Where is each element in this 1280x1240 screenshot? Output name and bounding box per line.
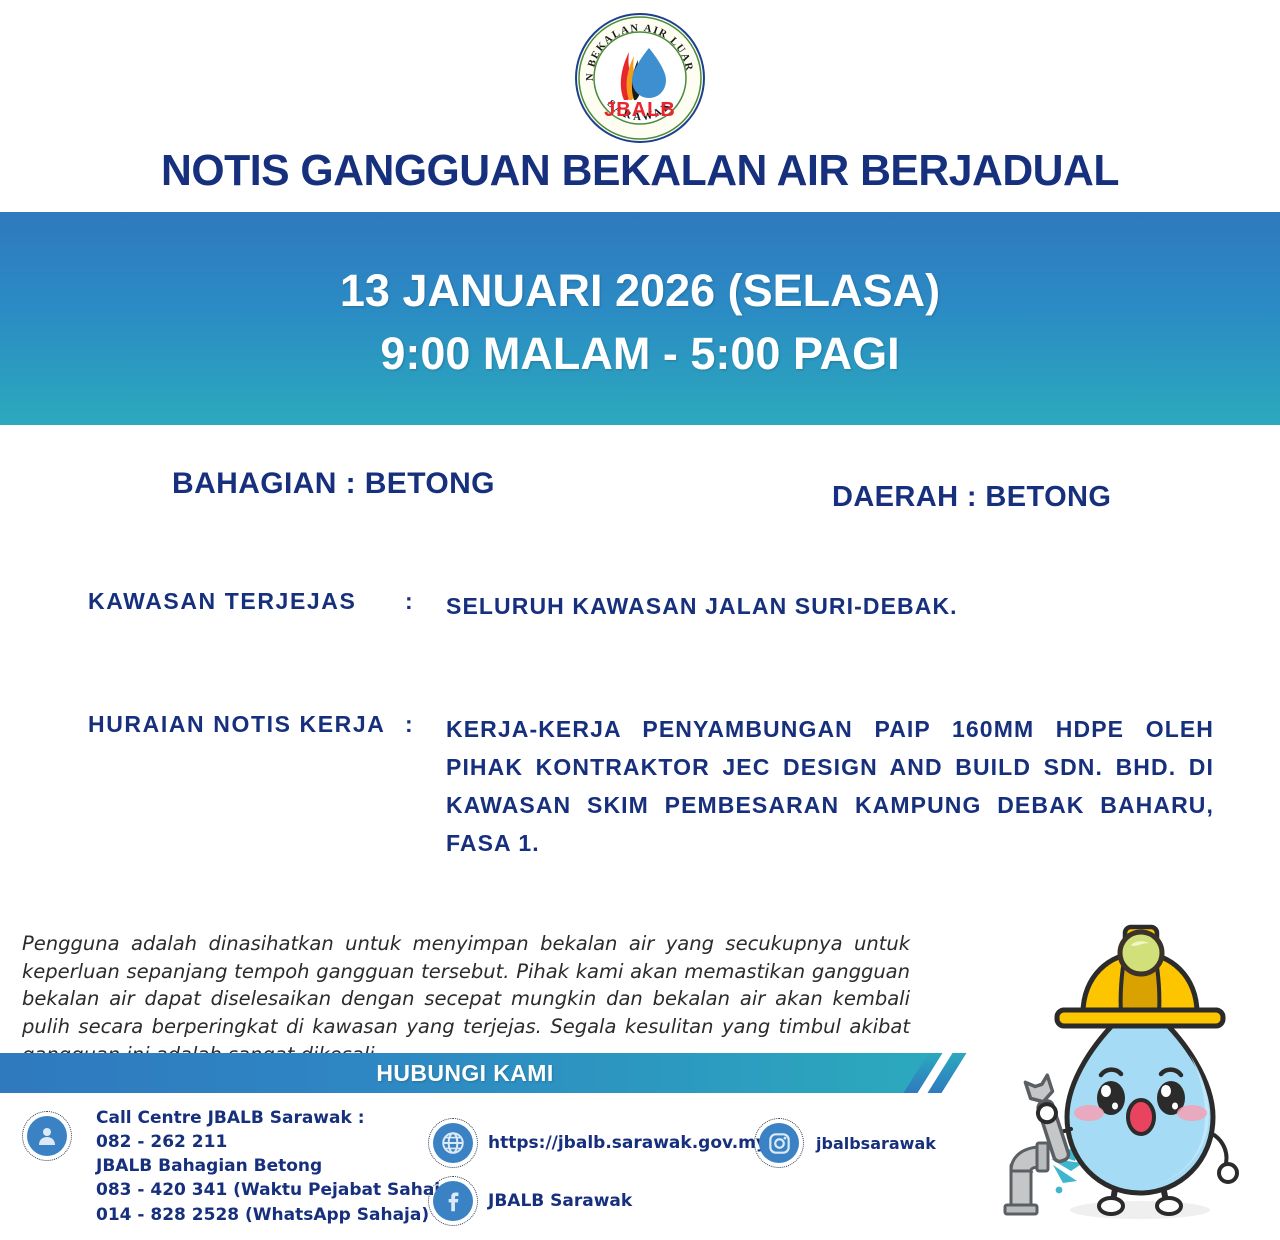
mascot-svg [985, 905, 1275, 1235]
helmet-lamp-icon [1120, 932, 1162, 974]
facebook-icon[interactable] [433, 1181, 473, 1221]
affected-area-label: KAWASAN TERJEJAS [88, 588, 388, 615]
jbalb-logo-svg: JABATAN BEKALAN AIR LUAR BANDAR SARAWAK … [574, 12, 706, 144]
facebook-icon-ring[interactable] [428, 1176, 478, 1226]
work-description-value: KERJA-KERJA PENYAMBUNGAN PAIP 160MM HDPE… [446, 711, 1214, 863]
branch-name: JBALB Bahagian Betong [96, 1154, 459, 1178]
instagram-icon[interactable] [759, 1123, 799, 1163]
left-blush [1074, 1105, 1104, 1121]
right-blush [1177, 1105, 1207, 1121]
person-icon [27, 1116, 67, 1156]
facebook-page-name[interactable]: JBALB Sarawak [488, 1191, 632, 1211]
logo-area: JABATAN BEKALAN AIR LUAR BANDAR SARAWAK … [0, 8, 1280, 148]
instagram-icon-glyph [767, 1131, 792, 1156]
facebook-icon-glyph [440, 1188, 466, 1214]
branch-phone[interactable]: 083 - 420 341 (Waktu Pejabat Sahaja) [96, 1178, 459, 1202]
person-icon-ring [22, 1111, 72, 1161]
instagram-icon-ring[interactable] [754, 1118, 804, 1168]
mascot-body [1067, 1000, 1213, 1193]
call-centre-block: Call Centre JBALB Sarawak : 082 - 262 21… [96, 1106, 459, 1227]
page-title: NOTIS GANGGUAN BEKALAN AIR BERJADUAL [19, 146, 1261, 196]
website-url[interactable]: https://jbalb.sarawak.gov.my/ [488, 1133, 773, 1153]
contact-band-wrapper: HUBUNGI KAMI [0, 1053, 1000, 1093]
globe-icon-ring[interactable] [428, 1118, 478, 1168]
globe-icon-glyph [440, 1130, 466, 1156]
water-droplet-mascot [985, 905, 1275, 1235]
work-description-label: HURAIAN NOTIS KERJA [88, 711, 388, 738]
advisory-paragraph: Pengguna adalah dinasihatkan untuk menyi… [22, 930, 910, 1068]
whatsapp-phone[interactable]: 014 - 828 2528 (WhatsApp Sahaja) [96, 1203, 459, 1227]
logo-acronym: JBALB [604, 99, 676, 121]
call-centre-phone[interactable]: 082 - 262 211 [96, 1130, 459, 1154]
affected-area-value: SELURUH KAWASAN JALAN SURI-DEBAK. [446, 588, 1214, 626]
date-time-band: 13 JANUARI 2026 (SELASA) 9:00 MALAM - 5:… [0, 212, 1280, 425]
work-description-colon: : [405, 711, 413, 738]
contact-band-title: HUBUNGI KAMI [0, 1053, 930, 1093]
instagram-handle[interactable]: jbalbsarawak [816, 1134, 936, 1153]
call-centre-title: Call Centre JBALB Sarawak : [96, 1106, 459, 1130]
district-label: DAERAH : BETONG [832, 481, 1111, 514]
division-label: BAHAGIAN : BETONG [172, 467, 495, 501]
globe-icon[interactable] [433, 1123, 473, 1163]
person-icon-glyph [35, 1124, 59, 1148]
mouth [1128, 1100, 1154, 1134]
hard-hat-icon [1057, 927, 1223, 1026]
notice-time: 9:00 MALAM - 5:00 PAGI [380, 323, 899, 385]
leaking-pipe-icon [1005, 1143, 1083, 1214]
region-row: BAHAGIAN : BETONG DAERAH : BETONG [0, 467, 1280, 511]
notice-date: 13 JANUARI 2026 (SELASA) [340, 260, 940, 322]
jbalb-logo: JABATAN BEKALAN AIR LUAR BANDAR SARAWAK … [574, 12, 706, 144]
mascot-shadow [1070, 1201, 1210, 1219]
affected-area-colon: : [405, 588, 413, 615]
